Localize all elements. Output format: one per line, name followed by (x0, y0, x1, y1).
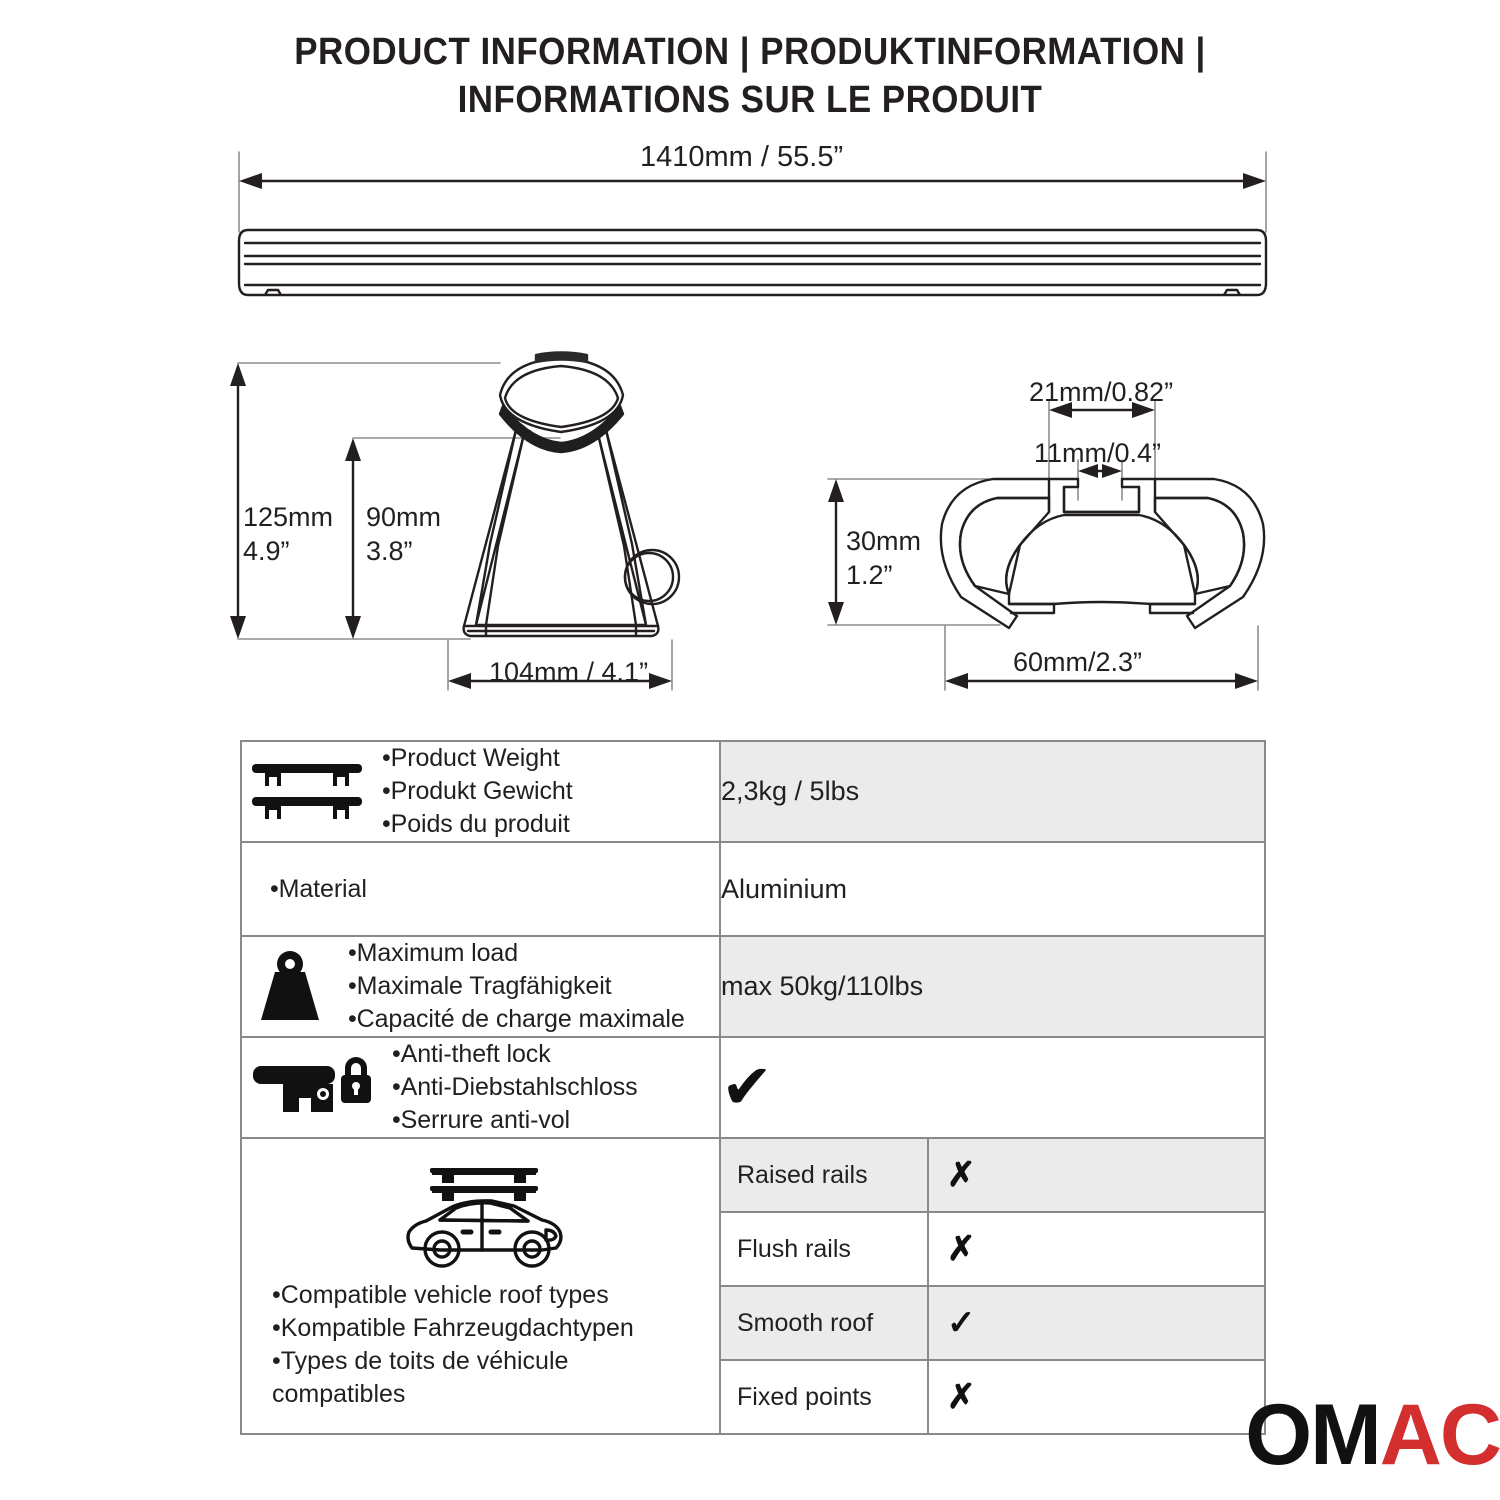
bullet-line: •Serrure anti-vol (392, 1104, 719, 1137)
bullet-line: •Anti-Diebstahlschloss (392, 1071, 719, 1104)
row-label-roof-types: •Compatible vehicle roof types •Kompatib… (241, 1138, 720, 1434)
roof-type-name: Flush rails (721, 1212, 928, 1286)
roof-type-name: Raised rails (721, 1139, 928, 1212)
row-label-anti-theft: •Anti-theft lock •Anti-Diebstahlschloss … (241, 1037, 720, 1138)
bullet-line: •Maximum load (348, 937, 719, 970)
bullet-line: •Types de toits de véhicule compatibles (272, 1345, 612, 1411)
lock-icon (242, 1050, 382, 1126)
row-value-weight: 2,3kg / 5lbs (720, 741, 1265, 842)
omac-logo: OM AC (1245, 1392, 1500, 1478)
roof-type-name: Smooth roof (721, 1286, 928, 1360)
bullet-line: •Maximale Tragfähigkeit (348, 970, 719, 1003)
table-row: •Maximum load •Maximale Tragfähigkeit •C… (241, 936, 1265, 1037)
dim-profile-slot-inner: 11mm/0.4” (1034, 436, 1161, 470)
bullet-line: •Anti-theft lock (392, 1038, 719, 1071)
dim-profile-height: 30mm 1.2” (846, 524, 921, 592)
product-information-sheet: PRODUCT INFORMATION | PRODUKTINFORMATION… (0, 0, 1500, 1500)
roof-type-row: Smooth roof ✓ (721, 1286, 1264, 1360)
roof-type-row: Fixed points ✗ (721, 1360, 1264, 1433)
row-value-anti-theft: ✔ (720, 1037, 1265, 1138)
row-bullets-material: •Material (270, 873, 719, 906)
title-line-1: PRODUCT INFORMATION | PRODUKTINFORMATION… (60, 28, 1440, 76)
roof-type-mark: ✗ (928, 1212, 1264, 1286)
row-label-max-load: •Maximum load •Maximale Tragfähigkeit •C… (241, 936, 720, 1037)
cross-mark: ✗ (947, 1230, 976, 1268)
roof-types-table: Raised rails ✗ Flush rails ✗ (721, 1139, 1264, 1433)
row-label-weight: •Product Weight •Produkt Gewicht •Poids … (241, 741, 720, 842)
bullet-line: •Capacité de charge maximale (348, 1003, 719, 1036)
dim-profile-width: 60mm/2.3” (1013, 645, 1142, 679)
table-row: •Anti-theft lock •Anti-Diebstahlschloss … (241, 1037, 1265, 1138)
dim-tower-width: 104mm / 4.1” (489, 655, 648, 689)
row-label-material: •Material (241, 842, 720, 936)
roof-types-subtable-cell: Raised rails ✗ Flush rails ✗ (720, 1138, 1265, 1434)
crossbars-icon (242, 757, 372, 827)
roof-type-row: Flush rails ✗ (721, 1212, 1264, 1286)
check-mark: ✓ (947, 1304, 976, 1342)
row-bullets-weight: •Product Weight •Produkt Gewicht •Poids … (382, 742, 719, 841)
dim-tower-height-inner: 90mm 3.8” (366, 500, 441, 568)
dim-profile-slot-outer: 21mm/0.82” (1029, 375, 1173, 409)
roof-type-mark: ✓ (928, 1286, 1264, 1360)
logo-text-red: AC (1380, 1392, 1500, 1478)
check-mark: ✔ (721, 1053, 773, 1122)
logo-text-black: OM (1245, 1392, 1380, 1478)
bullet-line: •Poids du produit (382, 808, 719, 841)
bullet-line: •Product Weight (382, 742, 719, 775)
roof-type-mark: ✗ (928, 1139, 1264, 1212)
specifications-table: •Product Weight •Produkt Gewicht •Poids … (240, 740, 1266, 1435)
car-with-roofbars-icon (396, 1162, 572, 1279)
table-row: •Material Aluminium (241, 842, 1265, 936)
row-bullets-anti-theft: •Anti-theft lock •Anti-Diebstahlschloss … (392, 1038, 719, 1137)
weight-icon (242, 950, 338, 1024)
roof-type-row: Raised rails ✗ (721, 1139, 1264, 1212)
row-bullets-max-load: •Maximum load •Maximale Tragfähigkeit •C… (348, 937, 719, 1036)
bullet-line: •Material (270, 873, 719, 906)
table-row: •Compatible vehicle roof types •Kompatib… (241, 1138, 1265, 1434)
row-value-material: Aluminium (720, 842, 1265, 936)
dim-bar-length: 1410mm / 55.5” (640, 140, 843, 174)
bullet-line: •Compatible vehicle roof types (272, 1279, 634, 1312)
table-row: •Product Weight •Produkt Gewicht •Poids … (241, 741, 1265, 842)
dim-tower-height-total: 125mm 4.9” (243, 500, 333, 568)
title-line-2: INFORMATIONS SUR LE PRODUIT (60, 76, 1440, 124)
bullet-line: •Kompatible Fahrzeugdachtypen (272, 1312, 634, 1345)
row-bullets-roof-types: •Compatible vehicle roof types •Kompatib… (256, 1279, 634, 1411)
row-value-max-load: max 50kg/110lbs (720, 936, 1265, 1037)
roof-type-mark: ✗ (928, 1360, 1264, 1433)
cross-mark: ✗ (947, 1378, 976, 1416)
roof-type-name: Fixed points (721, 1360, 928, 1433)
bullet-line: •Produkt Gewicht (382, 775, 719, 808)
cross-mark: ✗ (947, 1156, 976, 1194)
page-title: PRODUCT INFORMATION | PRODUKTINFORMATION… (0, 28, 1500, 124)
